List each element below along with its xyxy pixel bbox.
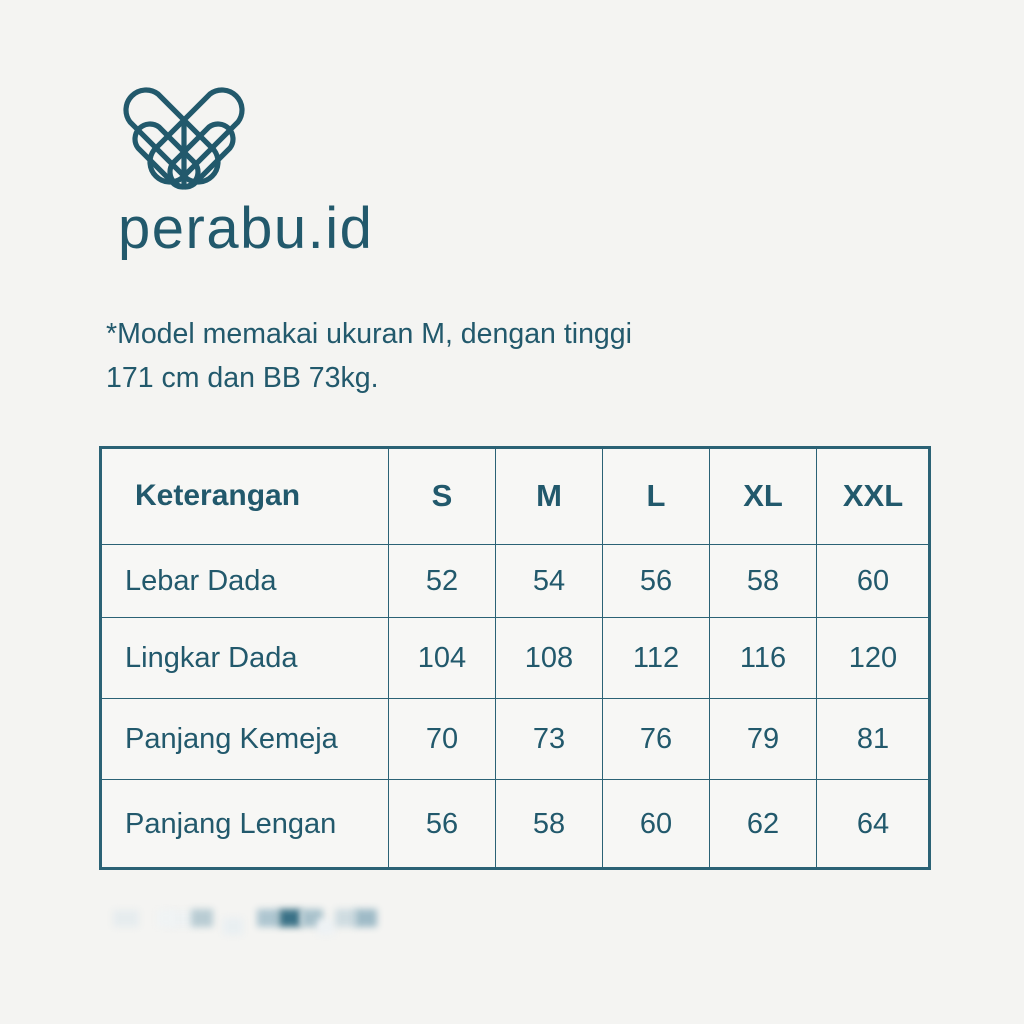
model-note: *Model memakai ukuran M, dengan tinggi 1… — [106, 312, 866, 401]
size-chart-table: Keterangan S M L XL XXL Lebar Dada 52 54… — [100, 447, 930, 869]
cell-panjang-lengan-s: 56 — [389, 780, 496, 869]
cell-lingkar-dada-l: 112 — [603, 618, 710, 699]
column-header-xxl: XXL — [817, 448, 930, 545]
model-note-line-1: *Model memakai ukuran M, dengan tinggi — [106, 312, 866, 356]
row-label-lebar-dada: Lebar Dada — [101, 545, 389, 618]
table-row: Panjang Kemeja 70 73 76 79 81 — [101, 699, 930, 780]
column-header-xl: XL — [710, 448, 817, 545]
size-chart-table-container: Keterangan S M L XL XXL Lebar Dada 52 54… — [100, 447, 925, 869]
column-header-m: M — [496, 448, 603, 545]
column-header-s: S — [389, 448, 496, 545]
interlocking-knot-logo-icon — [118, 86, 250, 192]
column-header-keterangan: Keterangan — [101, 448, 389, 545]
cell-panjang-lengan-m: 58 — [496, 780, 603, 869]
cell-lingkar-dada-m: 108 — [496, 618, 603, 699]
cell-panjang-kemeja-m: 73 — [496, 699, 603, 780]
model-note-line-2: 171 cm dan BB 73kg. — [106, 356, 866, 400]
cell-panjang-lengan-xxl: 64 — [817, 780, 930, 869]
cell-lebar-dada-xl: 58 — [710, 545, 817, 618]
cell-panjang-kemeja-xxl: 81 — [817, 699, 930, 780]
row-label-lingkar-dada: Lingkar Dada — [101, 618, 389, 699]
table-row: Panjang Lengan 56 58 60 62 64 — [101, 780, 930, 869]
blurred-watermark — [105, 903, 373, 937]
cell-lingkar-dada-s: 104 — [389, 618, 496, 699]
cell-panjang-kemeja-l: 76 — [603, 699, 710, 780]
row-label-panjang-lengan: Panjang Lengan — [101, 780, 389, 869]
table-header: Keterangan S M L XL XXL — [101, 448, 930, 545]
cell-lingkar-dada-xl: 116 — [710, 618, 817, 699]
table-body: Lebar Dada 52 54 56 58 60 Lingkar Dada 1… — [101, 545, 930, 869]
cell-lebar-dada-s: 52 — [389, 545, 496, 618]
brand-block: perabu.id — [118, 86, 373, 258]
row-label-panjang-kemeja: Panjang Kemeja — [101, 699, 389, 780]
table-header-row: Keterangan S M L XL XXL — [101, 448, 930, 545]
cell-panjang-kemeja-s: 70 — [389, 699, 496, 780]
cell-lingkar-dada-xxl: 120 — [817, 618, 930, 699]
cell-lebar-dada-l: 56 — [603, 545, 710, 618]
cell-panjang-kemeja-xl: 79 — [710, 699, 817, 780]
table-row: Lingkar Dada 104 108 112 116 120 — [101, 618, 930, 699]
cell-panjang-lengan-xl: 62 — [710, 780, 817, 869]
cell-lebar-dada-m: 54 — [496, 545, 603, 618]
size-chart-page: perabu.id *Model memakai ukuran M, denga… — [0, 0, 1024, 1024]
cell-panjang-lengan-l: 60 — [603, 780, 710, 869]
cell-lebar-dada-xxl: 60 — [817, 545, 930, 618]
brand-wordmark: perabu.id — [118, 200, 373, 258]
table-row: Lebar Dada 52 54 56 58 60 — [101, 545, 930, 618]
column-header-l: L — [603, 448, 710, 545]
